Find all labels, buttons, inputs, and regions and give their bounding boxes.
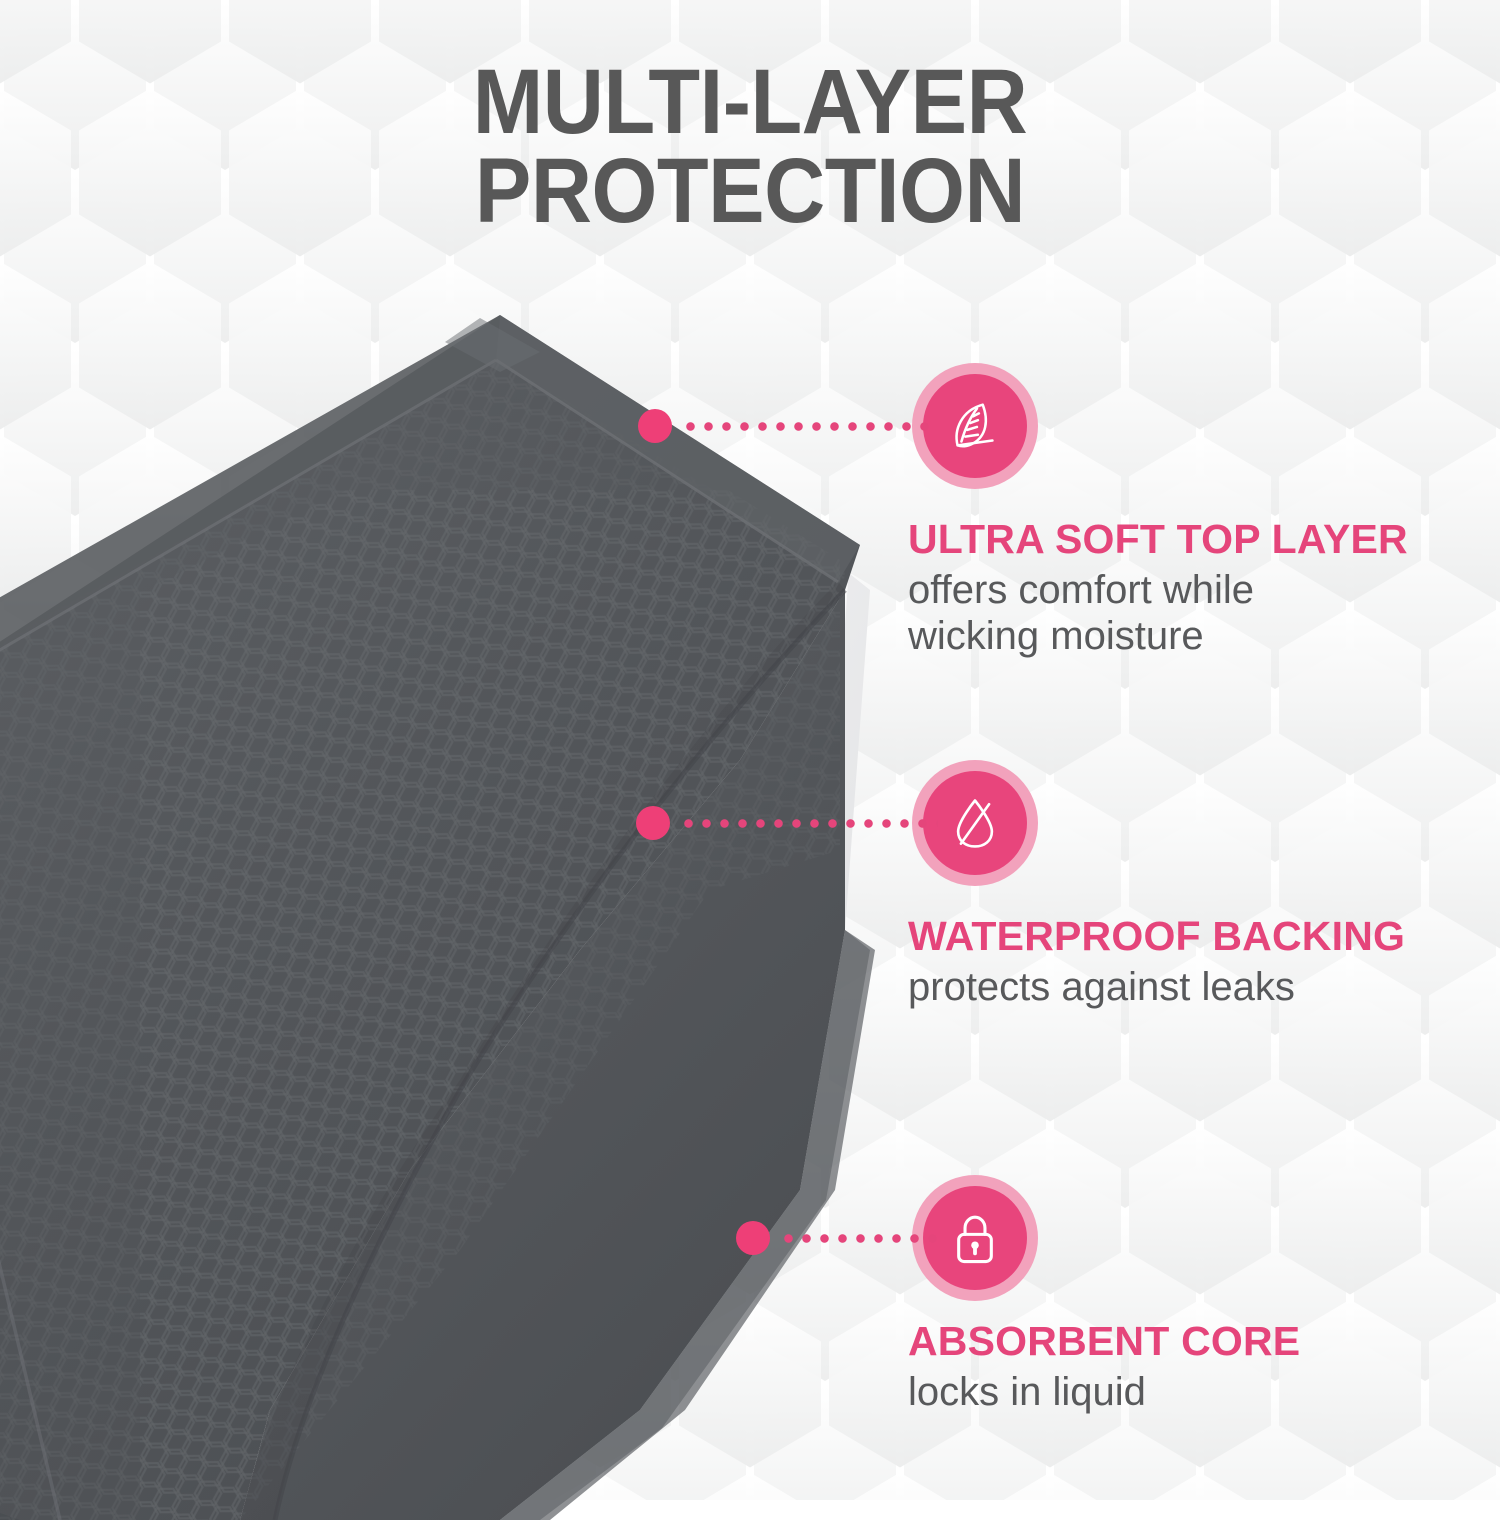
feature-3-body-line-1: locks in liquid: [908, 1369, 1500, 1415]
no-water-drop-icon: [945, 793, 1005, 853]
feature-2-heading: WATERPROOF BACKING: [908, 915, 1500, 958]
feature-1-body-line-2: wicking moisture: [908, 613, 1500, 659]
connector-line-1: [638, 409, 938, 443]
connector-dot-1: [638, 409, 672, 443]
connector-line-3: [736, 1221, 938, 1255]
connector-dot-2: [636, 806, 670, 840]
connector-dashes-2: [684, 819, 938, 828]
feature-1-body: offers comfort while wicking moisture: [908, 567, 1500, 659]
feather-icon: [944, 395, 1006, 457]
page-title: MULTI-LAYER PROTECTION: [60, 58, 1440, 236]
connector-dashes-1: [686, 422, 938, 431]
feature-1-body-line-1: offers comfort while: [908, 567, 1500, 613]
connector-dot-3: [736, 1221, 770, 1255]
feature-3-body: locks in liquid: [908, 1369, 1500, 1415]
feature-3-heading: ABSORBENT CORE: [908, 1320, 1500, 1363]
feature-2-body-line-1: protects against leaks: [908, 964, 1500, 1010]
feature-2-text: WATERPROOF BACKING protects against leak…: [908, 915, 1500, 1010]
page-title-line-1: MULTI-LAYER: [473, 51, 1027, 153]
connector-line-2: [636, 806, 938, 840]
feature-1-text: ULTRA SOFT TOP LAYER offers comfort whil…: [908, 518, 1500, 659]
connector-dashes-3: [784, 1234, 938, 1243]
product-image: [0, 290, 900, 1520]
page-title-line-2: PROTECTION: [60, 147, 1440, 236]
feature-1-heading: ULTRA SOFT TOP LAYER: [908, 518, 1500, 561]
feature-2-body: protects against leaks: [908, 964, 1500, 1010]
feature-3-text: ABSORBENT CORE locks in liquid: [908, 1320, 1500, 1415]
lock-icon: [946, 1209, 1004, 1267]
